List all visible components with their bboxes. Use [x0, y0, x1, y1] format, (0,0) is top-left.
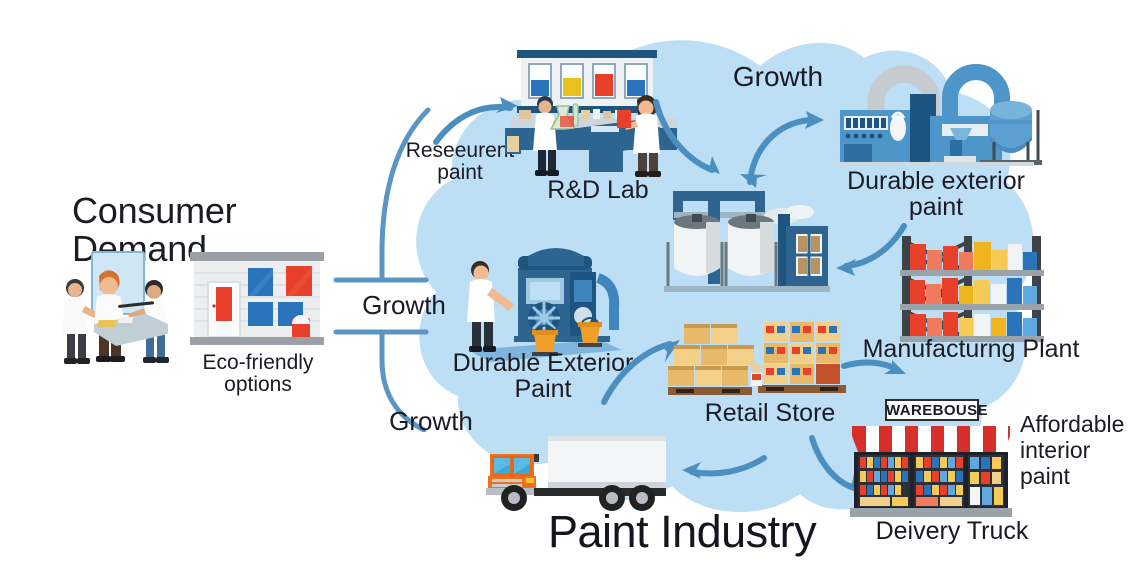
diagram-title: Paint Industry: [548, 508, 868, 555]
delivery-truck-illustration: [484, 424, 674, 514]
node-label-durable-exterior-paint-top: Durable exterior paint: [836, 168, 1036, 221]
warehouse-sign-text: WAREBOUSE: [886, 403, 978, 419]
node-label-rd-lab: R&D Lab: [528, 177, 668, 203]
arrow-growth-to-truck: [418, 430, 498, 490]
retail-store-pallets-illustration: [668, 312, 852, 404]
scientists-illustration: [58, 248, 188, 370]
arrow-retail-to-plant: [840, 350, 910, 390]
node-label-delivery-truck: Deivery Truck: [862, 518, 1042, 544]
storage-rack-illustration: [898, 232, 1046, 344]
node-label-retail-store: Retail Store: [690, 400, 850, 426]
node-label-affordable-interior-paint: Affordable interior paint: [1020, 412, 1140, 489]
edge-label-growth-middle: Growth: [348, 292, 460, 319]
infographic-canvas: Consumer Demand: [0, 0, 1140, 570]
node-label-eco-friendly-options: Eco-friendly options: [182, 352, 334, 396]
eco-friendly-store-illustration: [186, 246, 328, 354]
factory-illustration: [818, 32, 1044, 172]
paint-mixing-tanks-illustration: [660, 172, 832, 298]
arrow-warehouse-to-truck: [676, 450, 768, 490]
